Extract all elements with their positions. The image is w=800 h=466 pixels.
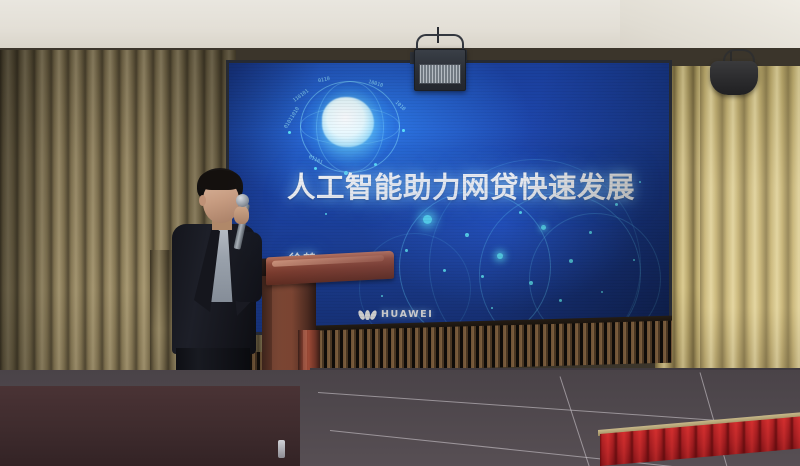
stage-light-lens xyxy=(419,64,461,84)
microphone-icon xyxy=(236,194,249,207)
conference-photo-scene: 01011010 110101 0110 10010 1010 01101 xyxy=(0,0,800,466)
speaker-ear xyxy=(199,195,206,206)
speaker-hair-front xyxy=(199,170,241,190)
curtain-right-outer xyxy=(700,66,800,411)
floor-foreground-left xyxy=(0,386,300,466)
ceiling-speaker xyxy=(710,61,758,95)
recessed-ceiling-light-icon xyxy=(112,37,128,42)
water-bottle xyxy=(278,440,285,458)
recessed-ceiling-light-icon xyxy=(680,33,696,38)
speaker-hand xyxy=(234,206,249,224)
